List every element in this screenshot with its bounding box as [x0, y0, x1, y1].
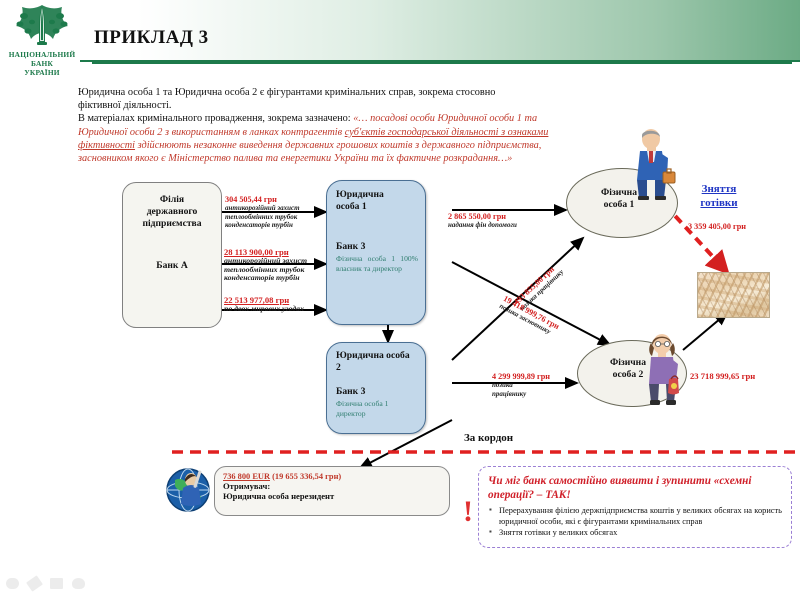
drawing-toolbar[interactable] [6, 578, 85, 589]
nbu-logo: НАЦІОНАЛЬНИЙ БАНК УКРАЇНИ [8, 4, 76, 76]
node-legal-entity-2[interactable]: Юридична особа 2 Банк 3 Фізична особа 1 … [326, 342, 426, 434]
legal1-owner: Фізична особа 1 100% власник та директор [327, 253, 425, 273]
withdrawal-amount-wrap: 3 359 405,00 грн [688, 222, 746, 231]
flow-8-amount: 23 718 999,65 грн [690, 371, 755, 381]
slide-canvas: ПРИКЛАД 3 НАЦІОНАЛЬНИЙ БАНК УКРАЇНИ [0, 0, 800, 594]
flow-1-desc-1: антикорозійний захист [225, 204, 300, 213]
legal2-owner-1: Фізична особа 1 [336, 399, 425, 409]
rect-tool-icon[interactable] [50, 578, 63, 589]
legal1-bank: Банк 3 [327, 213, 425, 253]
conclusion-bullet-2: Зняття готівки у великих обсягах [488, 527, 782, 538]
legal2-title-2: 2 [336, 362, 425, 374]
logo-line-1: НАЦІОНАЛЬНИЙ [8, 50, 76, 59]
flow-label-7: 4 299 999,89 грн позика працівнику [492, 372, 550, 398]
flow-4-desc-1: надання фін допомоги [448, 221, 517, 230]
intro-line-1: Юридична особа 1 та Юридична особа 2 є ф… [78, 87, 495, 98]
intro-line-3: В матеріалах кримінального провадження, … [78, 113, 353, 124]
withdrawal-amount: 3 359 405,00 грн [688, 222, 746, 231]
conclusion-bullet-1: Перерахування філією держпідприємства ко… [488, 505, 782, 527]
conclusion-bullet-list: Перерахування філією держпідприємства ко… [488, 505, 782, 538]
withdrawal-title-1: Зняття [676, 182, 762, 196]
pen-tool-icon[interactable] [26, 575, 43, 591]
logo-line-2: БАНК [8, 59, 76, 68]
withdrawal-title: Зняття готівки [676, 182, 762, 210]
page-title: ПРИКЛАД 3 [94, 27, 209, 49]
branch-title-1: Філія [123, 194, 221, 206]
conclusion-title-1: Чи міг банк самостійно виявити і зупинит… [488, 474, 782, 488]
flow-4-amount: 2 865 550,00 грн [448, 212, 517, 221]
branch-title-2: державного [123, 206, 221, 218]
receiver-label: Отримувач: [223, 481, 441, 491]
intro-quote-b: здійснюють незаконне виведення державних… [78, 140, 541, 164]
flow-label-3: 22 513 977,08 грн по двох мирових угодах [224, 295, 304, 314]
legal2-owner-2: директор [336, 409, 425, 419]
globe-with-person-icon [163, 466, 213, 514]
man-with-briefcase-icon [627, 128, 679, 200]
branch-title-3: підприємства [123, 218, 221, 230]
flow-7-desc-1: позика [492, 381, 550, 390]
nbu-emblem-icon [11, 4, 73, 50]
withdrawal-title-2: готівки [676, 196, 762, 210]
border-label: За кордон [464, 432, 513, 444]
woman-with-bag-icon [640, 332, 688, 408]
receiver-value: Юридична особа нерезидент [223, 491, 441, 501]
euro-transfer-box[interactable]: 736 800 EUR (19 655 336,54 грн) Отримува… [214, 466, 450, 516]
flow-label-8: 23 718 999,65 грн [690, 371, 755, 381]
conclusion-box[interactable]: Чи міг банк самостійно виявити і зупинит… [478, 466, 792, 548]
intro-text: Юридична особа 1 та Юридична особа 2 є ф… [78, 86, 578, 165]
cash-banknotes-icon [697, 272, 770, 318]
person1-line-2: особа 1 [561, 199, 677, 211]
cloud-tool-icon[interactable] [72, 578, 85, 589]
flow-2-desc-3: конденсаторів турбін [224, 274, 307, 283]
flow-label-2: 28 113 900,00 грн антикорозійний захист … [224, 247, 307, 283]
exclamation-icon: ! [463, 497, 473, 527]
euro-amount-uah: (19 655 336,54 грн) [272, 472, 341, 481]
conclusion-title-2: операції? – ТАК! [488, 488, 782, 502]
legal1-title-2: особа 1 [336, 201, 425, 213]
branch-bank: Банк А [123, 260, 221, 272]
oval-tool-icon[interactable] [6, 578, 19, 589]
flow-3-desc-1: по двох мирових угодах [224, 305, 304, 314]
flow-1-amount: 304 505,44 грн [225, 195, 300, 204]
legal2-bank: Банк 3 [327, 374, 425, 398]
flow-label-4: 2 865 550,00 грн надання фін допомоги [448, 212, 517, 230]
flow-label-1: 304 505,44 грн антикорозійний захист теп… [225, 195, 300, 230]
intro-line-2: фіктивної діяльності. [78, 100, 171, 111]
flow-1-desc-3: конденсаторів турбін [225, 221, 300, 230]
node-branch[interactable]: Філія державного підприємства Банк А [122, 182, 222, 328]
legal1-title-1: Юридична [336, 189, 425, 201]
node-legal-entity-1[interactable]: Юридична особа 1 Банк 3 Фізична особа 1 … [326, 180, 426, 325]
legal2-title-1: Юридична особа [336, 350, 425, 362]
euro-amount: 736 800 EUR [223, 472, 270, 481]
header-divider [92, 62, 792, 64]
flow-1-desc-2: теплообмінних трубок [225, 213, 300, 222]
flow-7-amount: 4 299 999,89 грн [492, 372, 550, 381]
flow-7-desc-2: працівнику [492, 390, 550, 399]
logo-line-3: УКРАЇНИ [8, 68, 76, 77]
